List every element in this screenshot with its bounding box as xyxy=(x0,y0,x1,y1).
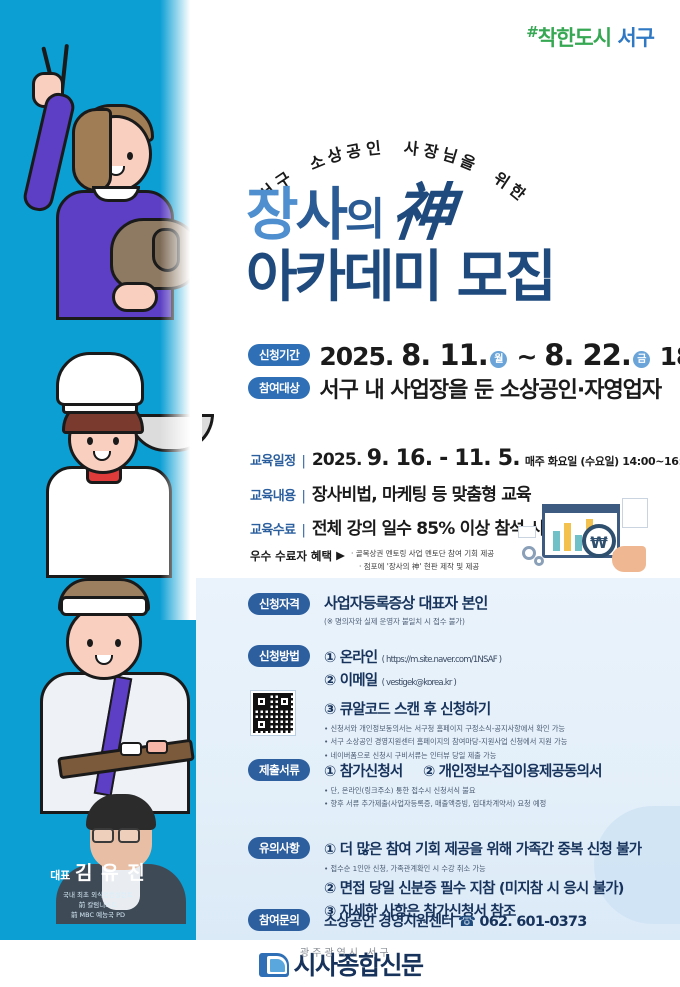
arc-subtitle-char: 상 xyxy=(324,141,345,168)
notices-item-1: ① 더 많은 참여 기회 제공을 위해 가족간 중복 신청 불가 xyxy=(324,838,641,859)
target-value: 서구 내 사업장을 둔 소상공인·자영업자 xyxy=(319,372,661,404)
page-title: 장사의神 아카데미 모집 xyxy=(246,182,666,306)
sep-icon: | xyxy=(301,523,305,538)
target-label: 참여대상 xyxy=(248,377,310,399)
documents-item-1: ① 참가신청서 xyxy=(324,764,402,780)
apply-start-day: 월 xyxy=(490,351,507,368)
arc-subtitle-char: 공 xyxy=(344,137,363,163)
arrow-right-icon: ▶ xyxy=(336,548,345,562)
arc-subtitle-char: 소 xyxy=(305,147,328,175)
panel-fade-overlay xyxy=(160,0,202,620)
target-row: 참여대상 서구 내 사업장을 둔 소상공인·자영업자 xyxy=(248,372,661,404)
apply-period-row: 신청기간 2025. 8. 11.월 ~ 8. 22.금 18:00 xyxy=(248,338,680,372)
method-item-qr: ③ 큐알코드 스캔 후 신청하기 xyxy=(324,698,567,719)
qr-finder-tr xyxy=(278,695,291,708)
section-contact: 참여문의 소상공인 경영지원센터 ☎ 062. 601-0373 xyxy=(248,908,587,931)
qr-finder-bl xyxy=(255,718,268,731)
method-email-address[interactable]: ( vestigek@korea.kr ) xyxy=(382,678,456,688)
brand-green-text: 착한도시 xyxy=(538,26,611,50)
education-content-value: 장사비법, 마케팅 등 맞춤형 교육 xyxy=(312,480,531,505)
arc-subtitle-char: 사 xyxy=(403,134,420,159)
arc-subtitle-char xyxy=(287,157,301,176)
analytics-titlebar-icon xyxy=(542,504,620,513)
presenter-credit-1: 국내 최초 외식업컨설턴트 xyxy=(0,890,196,900)
documents-items: ① 참가신청서 ② 개인정보수집이용제공동의서 xyxy=(324,760,602,781)
method-bullet-1: • 신청서와 개인정보동의서는 서구청 홈페이지 구정소식-공지사항에서 확인 … xyxy=(324,722,567,735)
education-content-key: 교육내용 xyxy=(250,485,295,504)
title-sin: 神 xyxy=(389,182,455,244)
apply-end-time: 18:00 xyxy=(660,342,680,371)
apply-start-date: 8. 11. xyxy=(401,338,488,372)
arc-subtitle-char: 님 xyxy=(439,141,460,168)
magnifier-won-icon: ₩ xyxy=(582,524,616,558)
arc-subtitle-char: 장 xyxy=(421,137,440,163)
education-schedule-detail: 매주 화요일 (수요일) 14:00~16:00 xyxy=(525,455,680,468)
presenter-name: 김 유 진 xyxy=(75,862,146,884)
notices-label: 유의사항 xyxy=(248,837,310,859)
method-online-url[interactable]: ( https://m.site.naver.com/1NSAF ) xyxy=(382,655,502,665)
presenter-credit-3: 前 MBC 예능국 PD xyxy=(0,910,196,920)
arc-subtitle-char xyxy=(385,134,391,153)
education-completion-key: 교육수료 xyxy=(250,519,295,538)
sep-icon: | xyxy=(301,454,305,469)
contact-phone: 062. 601-0373 xyxy=(479,914,586,930)
method-bullets: • 신청서와 개인정보동의서는 서구청 홈페이지 구정소식-공지사항에서 확인 … xyxy=(324,722,567,762)
presenter-role: 대표 xyxy=(50,869,70,882)
qr-code[interactable] xyxy=(250,690,296,736)
education-schedule-value: 2025. 9. 16. - 11. 5. 매주 화요일 (수요일) 14:00… xyxy=(312,446,680,471)
analytics-side-panel-icon xyxy=(622,498,648,528)
apply-end-day: 금 xyxy=(633,351,650,368)
footer-top-text: 광주광역시 서구 xyxy=(300,944,392,959)
brand-blue-text: 서구 xyxy=(617,26,654,50)
contact-label: 참여문의 xyxy=(248,909,310,931)
qualification-title: 사업자등록증상 대표자 본인 xyxy=(324,592,487,613)
title-jang: 장 xyxy=(246,182,295,248)
education-schedule-year: 2025. xyxy=(312,450,362,470)
qr-finder-tl xyxy=(255,695,268,708)
section-documents: 제출서류 ① 참가신청서 ② 개인정보수집이용제공동의서 • 단, 온라인(링크… xyxy=(248,758,602,811)
arc-subtitle-char: 인 xyxy=(364,134,381,159)
section-qualification: 신청자격 사업자등록증상 대표자 본인 (※ 명의자와 실제 운영자 불일치 시… xyxy=(248,592,487,627)
qualification-label: 신청자격 xyxy=(248,593,310,615)
phone-icon: ☎ xyxy=(458,914,475,930)
education-schedule-key: 교육일정 xyxy=(250,450,295,469)
education-schedule-range: 9. 16. - 11. 5. xyxy=(367,446,520,471)
title-line-2: 아카데미 모집 xyxy=(246,250,666,306)
brand-logo: #착한도시 서구 xyxy=(526,22,654,52)
method-item-online: ① 온라인 ( https://m.site.naver.com/1NSAF ) xyxy=(324,646,567,667)
documents-bullet-1: • 단, 온라인(링크주소) 통한 접수시 신청서식 불요 xyxy=(324,784,602,797)
hash-icon: # xyxy=(526,23,538,41)
footer-watermark: 광주광역시 서구 시사종합신문 xyxy=(0,940,680,987)
gear-icon-small xyxy=(534,556,544,566)
education-benefit-item-2: · 점포에 '장사의 神' 현판 제작 및 제공 xyxy=(359,561,494,574)
analytics-note-icon xyxy=(518,526,536,538)
education-completion-value: 전체 강의 일수 85% 이상 참석 시 xyxy=(312,514,544,539)
title-sa: 사 xyxy=(295,182,344,248)
method-email-text: ② 이메일 xyxy=(324,673,377,689)
method-item-email: ② 이메일 ( vestigek@korea.kr ) xyxy=(324,669,567,690)
apply-year: 2025. xyxy=(319,342,393,371)
apply-tilde: ~ xyxy=(517,342,537,371)
qualification-note: (※ 명의자와 실제 운영자 불일치 시 접수 불가) xyxy=(324,616,487,627)
documents-bullets: • 단, 온라인(링크주소) 통한 접수시 신청서식 불요 • 향후 서류 추가… xyxy=(324,784,602,811)
title-line-1: 장사의神 xyxy=(246,182,666,244)
documents-label: 제출서류 xyxy=(248,759,310,781)
notices-item-1-note: • 접수순 1인만 신청, 가족관계확인 시 수강 취소 가능 xyxy=(324,862,641,875)
apply-end-date: 8. 22. xyxy=(544,338,631,372)
presenter-name-block: 대표 김 유 진 국내 최초 외식업컨설턴트 前 칼럼니스트 前 MBC 예능국… xyxy=(0,858,196,920)
contact-value: 소상공인 경영지원센터 ☎ 062. 601-0373 xyxy=(324,910,587,931)
title-ui: 의 xyxy=(345,194,382,245)
method-online-text: ① 온라인 xyxy=(324,650,377,666)
presenter-credits: 국내 최초 외식업컨설턴트 前 칼럼니스트 前 MBC 예능국 PD xyxy=(0,890,196,920)
documents-item-2: ② 개인정보수집이용제공동의서 xyxy=(423,764,602,780)
poster-root: 대표 김 유 진 국내 최초 외식업컨설턴트 前 칼럼니스트 前 MBC 예능국… xyxy=(0,0,680,987)
documents-bullet-2: • 향후 서류 추가제출(사업자등록증, 매출액증빙, 임대차계약서) 요청 예… xyxy=(324,797,602,810)
education-benefit-items: · 골목상권 멘토링 사업 멘토단 참여 기회 제공 · 점포에 '장사의 神'… xyxy=(351,548,494,574)
hand-icon xyxy=(612,546,646,572)
sep-icon: | xyxy=(301,489,305,504)
education-schedule-line: 교육일정 | 2025. 9. 16. - 11. 5. 매주 화요일 (수요일… xyxy=(250,446,670,471)
apply-period-label: 신청기간 xyxy=(248,344,310,366)
education-benefit-item-1: · 골목상권 멘토링 사업 멘토단 참여 기회 제공 xyxy=(351,548,494,561)
method-bullet-2: • 서구 소상공인 경영지원센터 홈페이지의 참여마당-지원사업 신청에서 지원… xyxy=(324,735,567,748)
apply-period-value: 2025. 8. 11.월 ~ 8. 22.금 18:00 xyxy=(319,338,680,372)
education-benefit-key: 우수 수료자 혜택 xyxy=(250,548,332,564)
method-label: 신청방법 xyxy=(248,645,310,667)
analytics-illustration: ₩ xyxy=(516,492,648,574)
presenter-credit-2: 前 칼럼니스트 xyxy=(0,900,196,910)
newspaper-logo-icon xyxy=(257,949,291,979)
contact-org: 소상공인 경영지원센터 xyxy=(324,914,454,930)
notices-item-2: ② 면접 당일 신분증 필수 지참 (미지참 시 응시 불가) xyxy=(324,877,641,898)
